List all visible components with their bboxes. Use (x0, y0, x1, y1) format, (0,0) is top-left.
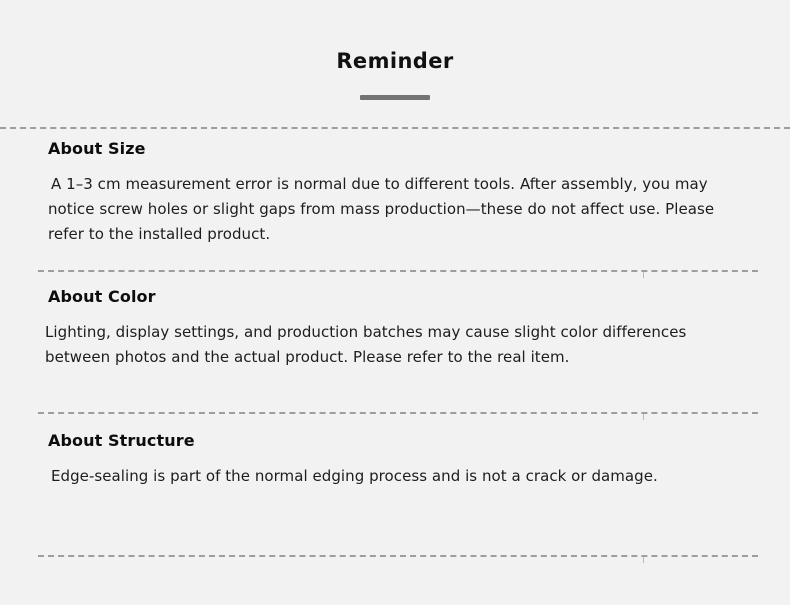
section-body-about-color: Lighting, display settings, and producti… (45, 320, 756, 370)
section-heading-about-size: About Size (48, 138, 756, 160)
divider-tick-icon (643, 272, 644, 278)
section-body-about-size: A 1–3 cm measurement error is normal due… (48, 172, 756, 247)
divider-after-about-size (38, 270, 758, 272)
section-body-about-structure: Edge-sealing is part of the normal edgin… (48, 464, 756, 489)
section-about-structure: About Structure Edge-sealing is part of … (0, 430, 790, 489)
title-underline-rule (360, 95, 430, 100)
divider-top (0, 127, 790, 129)
section-heading-about-structure: About Structure (48, 430, 756, 452)
divider-after-about-color (38, 412, 758, 414)
section-about-color: About Color Lighting, display settings, … (0, 286, 790, 370)
section-heading-about-color: About Color (48, 286, 756, 308)
reminder-page: Reminder About Size A 1–3 cm measurement… (0, 0, 790, 605)
page-title: Reminder (0, 48, 790, 74)
page-title-block: Reminder (0, 48, 790, 100)
divider-tick-icon (643, 557, 644, 563)
divider-tick-icon (643, 414, 644, 420)
section-about-size: About Size A 1–3 cm measurement error is… (0, 138, 790, 247)
divider-bottom (38, 555, 758, 557)
